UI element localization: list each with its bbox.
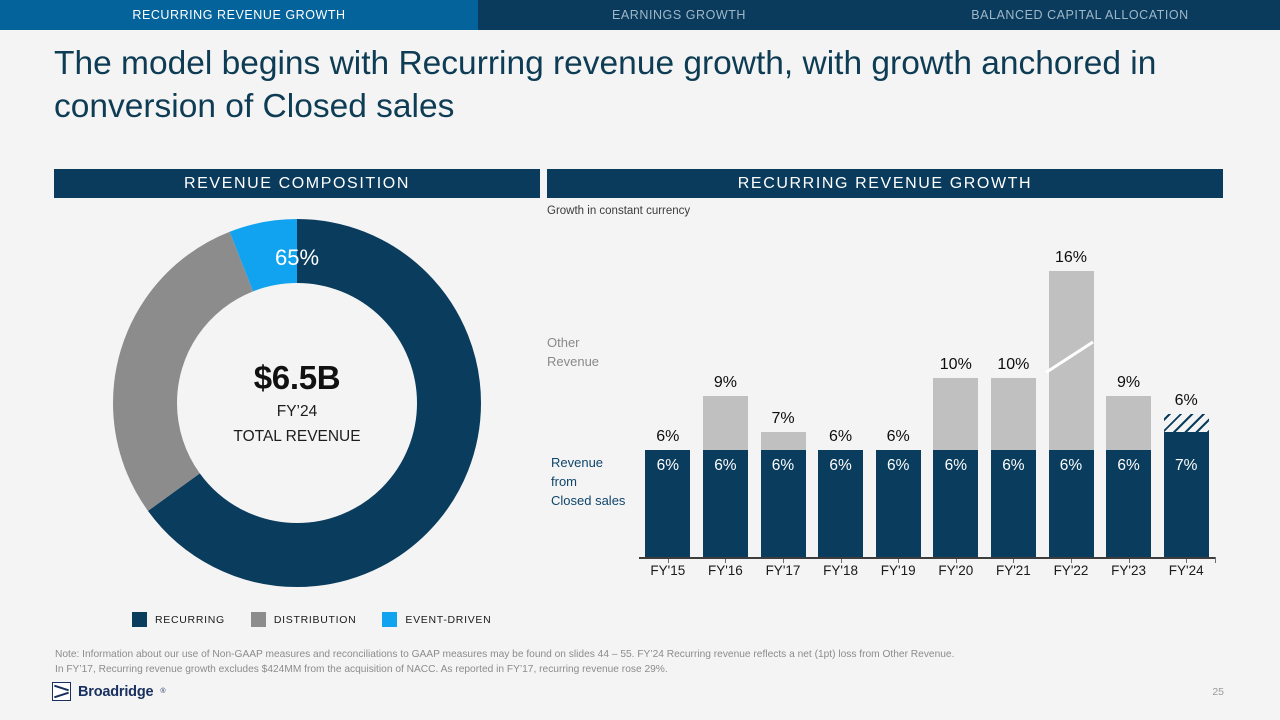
- legend-item-distribution: DISTRIBUTION: [251, 612, 357, 627]
- legend-item-recurring: RECURRING: [132, 612, 225, 627]
- bar-segment-closed-sales: 6%: [933, 450, 978, 557]
- donut-fiscal-year: FY’24: [177, 401, 417, 422]
- page-number: 25: [1212, 686, 1224, 698]
- broadridge-logo: Broadridge ®: [52, 682, 166, 701]
- footnote-line-1: Note: Information about our use of Non-G…: [55, 648, 954, 663]
- bar-segment-closed-sales-label: 6%: [887, 457, 909, 475]
- legend-label-event-driven: EVENT-DRIVEN: [405, 614, 491, 626]
- bar-segment-closed-sales-label: 6%: [945, 457, 967, 475]
- legend-swatch-distribution: [251, 612, 266, 627]
- bar-column[interactable]: 6%6%: [818, 215, 863, 557]
- bar-segment-closed-sales-label: 6%: [829, 457, 851, 475]
- bar-segment-closed-sales: 6%: [703, 450, 748, 557]
- x-axis-label: FY'24: [1148, 563, 1224, 578]
- bar-segment-closed-sales: 6%: [991, 450, 1036, 557]
- bar-group: 6%6%FY'156%9%FY'166%7%FY'176%6%FY'186%6%…: [639, 215, 1215, 557]
- series-label-other-revenue-l2: Revenue: [547, 352, 599, 371]
- page-title: The model begins with Recurring revenue …: [54, 42, 1184, 128]
- bar-total-label: 6%: [863, 428, 933, 446]
- bar-segment-other-revenue: [761, 432, 806, 450]
- donut-recurring-percent-label: 65%: [112, 245, 482, 271]
- bar-segment-other-revenue-loss: [1164, 414, 1209, 432]
- bar-segment-closed-sales: 6%: [1106, 450, 1151, 557]
- bar-column[interactable]: 6%6%: [645, 215, 690, 557]
- legend-label-distribution: DISTRIBUTION: [274, 614, 357, 626]
- series-label-closed-sales: Revenue from Closed sales: [551, 453, 625, 510]
- x-axis-line: [639, 557, 1215, 559]
- bar-segment-other-revenue: [991, 378, 1036, 450]
- bar-total-label: 10%: [978, 356, 1048, 374]
- bar-segment-closed-sales: 6%: [818, 450, 863, 557]
- bar-segment-other-revenue: [933, 378, 978, 450]
- registered-trademark-icon: ®: [160, 688, 165, 695]
- bar-total-label: 7%: [748, 410, 818, 428]
- bar-segment-closed-sales-label: 7%: [1175, 457, 1197, 475]
- bar-column[interactable]: 6%16%: [1049, 215, 1094, 557]
- bar-column[interactable]: 6%9%: [1106, 215, 1151, 557]
- legend-item-event-driven: EVENT-DRIVEN: [382, 612, 491, 627]
- donut-center-text: $6.5B FY’24 TOTAL REVENUE: [177, 359, 417, 447]
- broadridge-wordmark: Broadridge: [78, 684, 153, 700]
- bar-column[interactable]: 6%6%: [876, 215, 921, 557]
- bar-column[interactable]: 7%6%: [1164, 215, 1209, 557]
- section-tab-strip: RECURRING REVENUE GROWTH EARNINGS GROWTH…: [0, 0, 1280, 30]
- bar-segment-closed-sales-label: 6%: [1117, 457, 1139, 475]
- bar-segment-closed-sales-label: 6%: [772, 457, 794, 475]
- donut-total-revenue-caption: TOTAL REVENUE: [177, 426, 417, 447]
- bar-total-label: 9%: [690, 374, 760, 392]
- series-label-closed-sales-l2: from: [551, 472, 625, 491]
- donut-total-revenue-value: $6.5B: [177, 359, 417, 397]
- axis-break-slash-icon: [1045, 341, 1094, 374]
- series-label-closed-sales-l3: Closed sales: [551, 491, 625, 510]
- bar-segment-closed-sales: 7%: [1164, 432, 1209, 557]
- bar-column[interactable]: 6%7%: [761, 215, 806, 557]
- footnote-line-2: In FY’17, Recurring revenue growth exclu…: [55, 663, 954, 678]
- panel-header-recurring-revenue-growth: RECURRING REVENUE GROWTH: [547, 169, 1223, 198]
- bar-segment-other-revenue: [1106, 396, 1151, 450]
- bar-total-label: 9%: [1094, 374, 1164, 392]
- legend-swatch-recurring: [132, 612, 147, 627]
- bar-segment-other-revenue: [1049, 271, 1094, 450]
- legend-label-recurring: RECURRING: [155, 614, 225, 626]
- bar-column[interactable]: 6%10%: [933, 215, 978, 557]
- bar-segment-closed-sales: 6%: [1049, 450, 1094, 557]
- series-label-other-revenue: Other Revenue: [547, 333, 599, 371]
- bar-segment-closed-sales-label: 6%: [657, 457, 679, 475]
- tab-balanced-capital-allocation[interactable]: BALANCED CAPITAL ALLOCATION: [880, 0, 1280, 30]
- x-axis-tick: [1215, 557, 1216, 563]
- panel-header-revenue-composition: REVENUE COMPOSITION: [54, 169, 540, 198]
- bar-segment-closed-sales: 6%: [645, 450, 690, 557]
- bar-segment-closed-sales-label: 6%: [1002, 457, 1024, 475]
- broadridge-mark-icon: [52, 682, 71, 701]
- bar-segment-closed-sales-label: 6%: [1060, 457, 1082, 475]
- bar-segment-closed-sales: 6%: [761, 450, 806, 557]
- bar-total-label: 6%: [633, 428, 703, 446]
- bar-segment-closed-sales-label: 6%: [714, 457, 736, 475]
- series-label-closed-sales-l1: Revenue: [551, 453, 625, 472]
- bar-total-label: 16%: [1036, 249, 1106, 267]
- recurring-revenue-growth-bar-chart: Other Revenue Revenue from Closed sales …: [547, 215, 1223, 565]
- bar-column[interactable]: 6%10%: [991, 215, 1036, 557]
- footnote: Note: Information about our use of Non-G…: [55, 648, 954, 677]
- donut-legend: RECURRING DISTRIBUTION EVENT-DRIVEN: [132, 612, 491, 627]
- legend-swatch-event-driven: [382, 612, 397, 627]
- bar-segment-closed-sales: 6%: [876, 450, 921, 557]
- revenue-composition-donut: 65% $6.5B FY’24 TOTAL REVENUE: [112, 218, 482, 588]
- slide: RECURRING REVENUE GROWTH EARNINGS GROWTH…: [0, 0, 1280, 720]
- tab-recurring-revenue-growth[interactable]: RECURRING REVENUE GROWTH: [0, 0, 478, 30]
- tab-earnings-growth[interactable]: EARNINGS GROWTH: [478, 0, 880, 30]
- series-label-other-revenue-l1: Other: [547, 333, 599, 352]
- bar-total-label: 6%: [1151, 392, 1221, 410]
- bar-segment-other-revenue: [703, 396, 748, 450]
- bar-column[interactable]: 6%9%: [703, 215, 748, 557]
